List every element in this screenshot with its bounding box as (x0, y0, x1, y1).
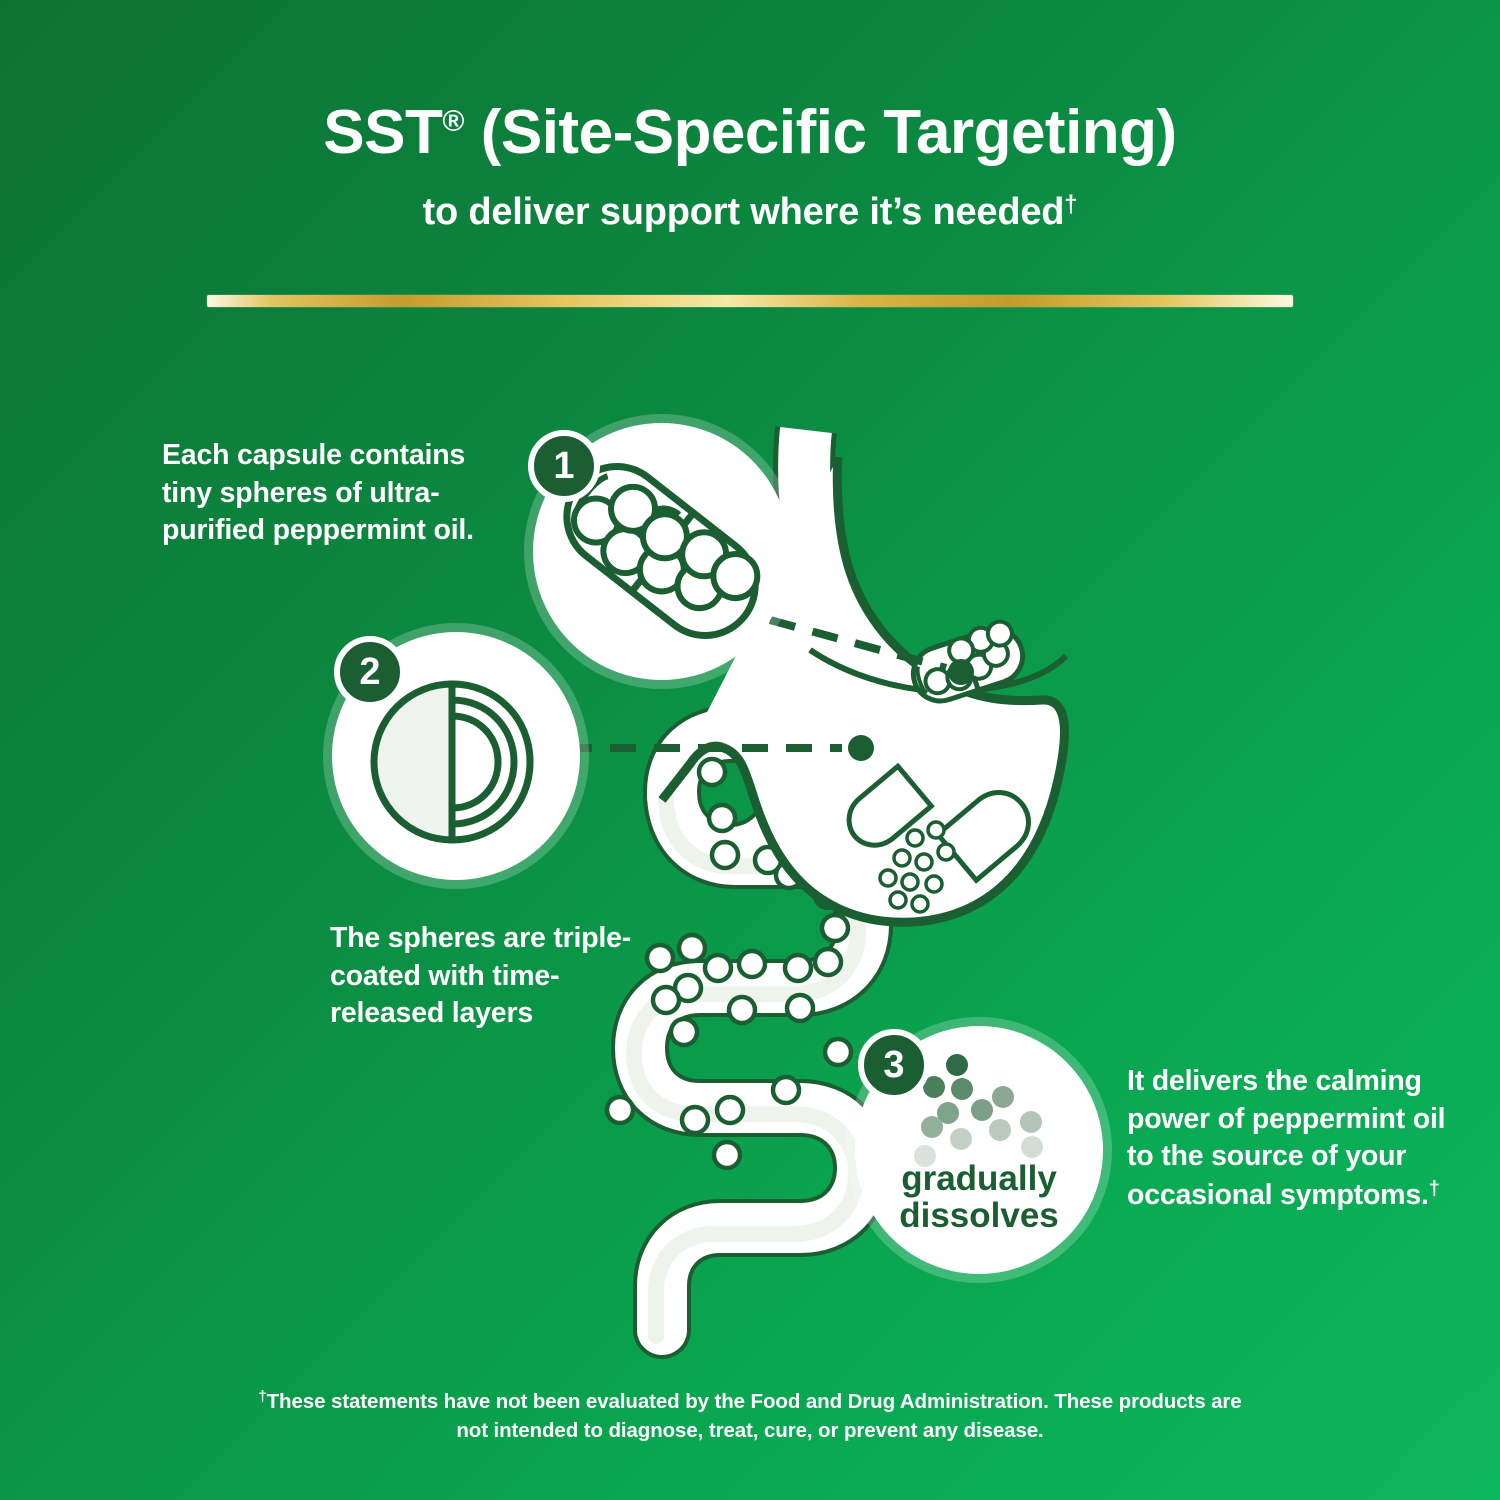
step-3-inner-label-line2: dissolves (855, 1197, 1103, 1234)
step-3-caption-text: It delivers the calming power of pepperm… (1127, 1065, 1445, 1211)
footnote-disclaimer: †These statements have not been evaluate… (250, 1386, 1250, 1445)
step-3-caption: It delivers the calming power of pepperm… (1127, 1063, 1467, 1214)
step-2-badge: 2 (334, 636, 406, 708)
dagger-icon: † (258, 1388, 266, 1405)
step-3-inner-label-line1: gradually (855, 1160, 1103, 1197)
step-1-number: 1 (553, 447, 574, 485)
infographic-page: SST® (Site-Specific Targeting) to delive… (0, 0, 1500, 1500)
dagger-icon: † (1429, 1178, 1440, 1200)
step-1-caption: Each capsule contains tiny spheres of ul… (162, 437, 522, 550)
step-3-number: 3 (883, 1046, 904, 1084)
step-2-caption: The spheres are triple-coated with time-… (330, 920, 660, 1033)
step-2-number: 2 (359, 653, 380, 691)
sst-diagram (0, 0, 1500, 1500)
step-1-badge: 1 (528, 430, 600, 502)
step-3-inner-label: gradually dissolves (855, 1160, 1103, 1234)
footnote-line-1: These statements have not been evaluated… (267, 1390, 1113, 1413)
step-3-badge: 3 (858, 1029, 930, 1101)
